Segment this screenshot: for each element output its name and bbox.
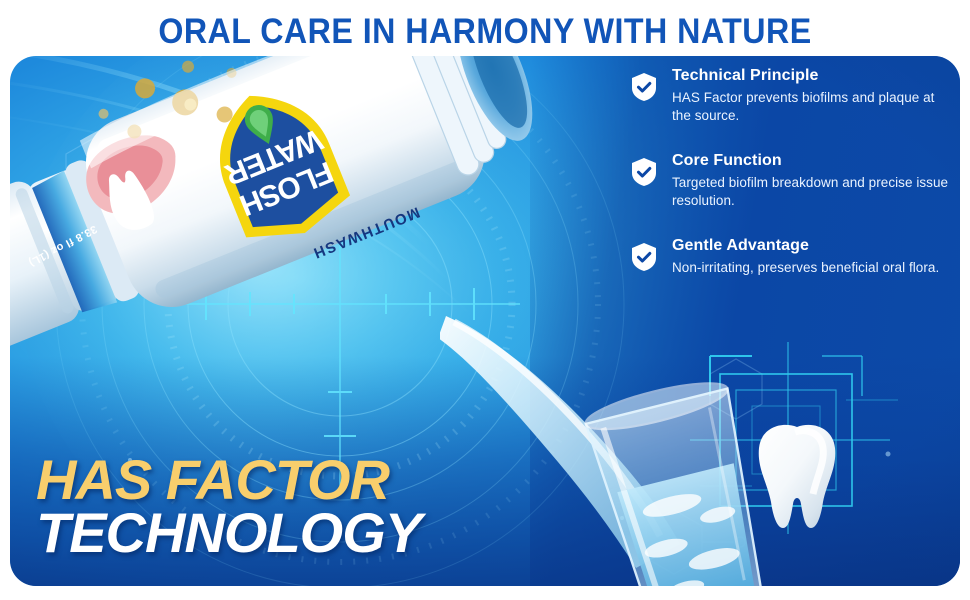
- feature-title: Technical Principle: [672, 66, 952, 86]
- shield-check-icon: [630, 72, 658, 102]
- feature-body: Targeted biofilm breakdown and precise i…: [672, 174, 952, 210]
- feature-body: HAS Factor prevents biofilms and plaque …: [672, 89, 952, 125]
- feature-list: Technical Principle HAS Factor prevents …: [630, 66, 952, 303]
- feature-item: Gentle Advantage Non-irritating, preserv…: [630, 236, 952, 277]
- brand-title-line1: HAS FACTOR: [36, 453, 421, 507]
- tooth-image: [755, 424, 839, 532]
- shield-check-icon: [630, 157, 658, 187]
- feature-body: Non-irritating, preserves beneficial ora…: [672, 259, 952, 277]
- shield-check-icon: [630, 242, 658, 272]
- feature-item: Core Function Targeted biofilm breakdown…: [630, 151, 952, 210]
- page-title: ORAL CARE IN HARMONY WITH NATURE: [39, 8, 931, 56]
- promo-banner: ORAL CARE IN HARMONY WITH NATURE: [0, 0, 970, 600]
- brand-title-line2: TECHNOLOGY: [36, 506, 421, 560]
- feature-title: Gentle Advantage: [672, 236, 952, 256]
- feature-title: Core Function: [672, 151, 952, 171]
- feature-item: Technical Principle HAS Factor prevents …: [630, 66, 952, 125]
- brand-title: HAS FACTOR TECHNOLOGY: [36, 453, 421, 561]
